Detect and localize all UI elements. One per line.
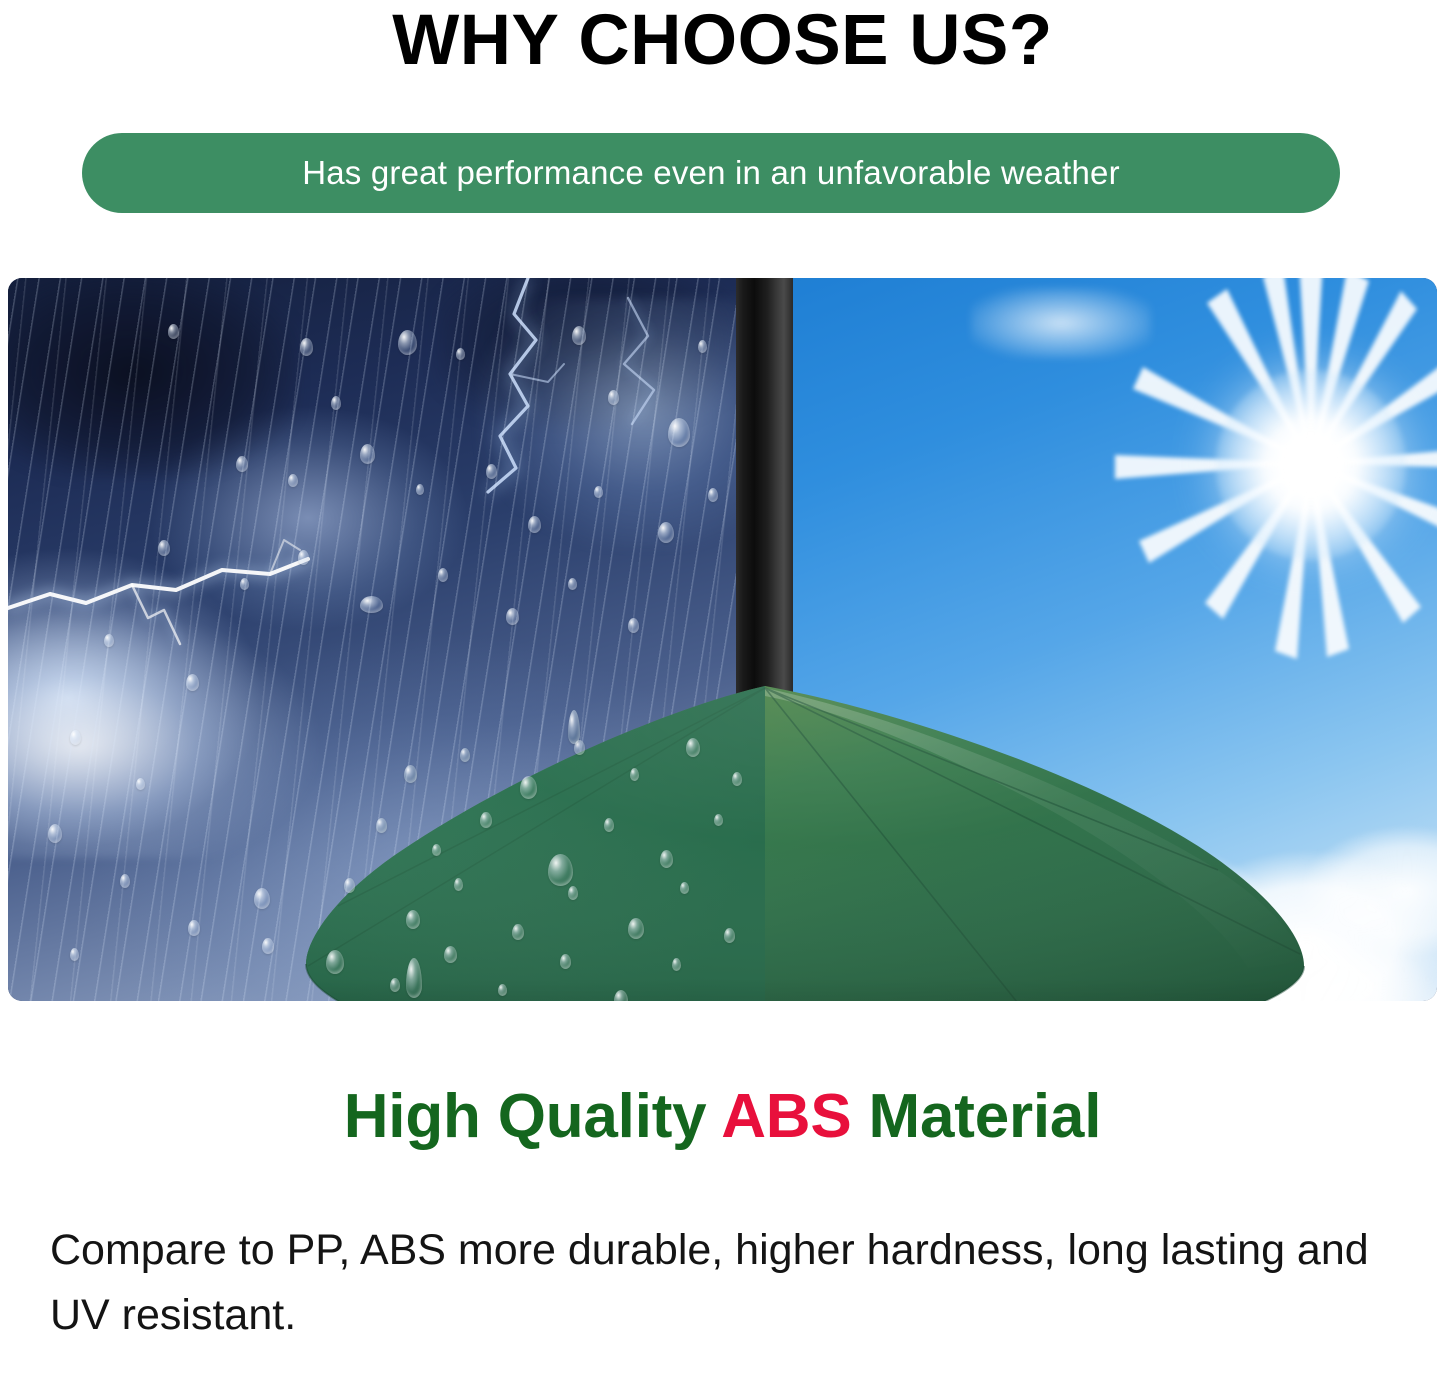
water-droplet — [70, 948, 79, 961]
water-droplet — [136, 778, 145, 790]
water-droplet — [568, 886, 578, 900]
water-droplet — [568, 578, 577, 590]
water-droplet — [630, 768, 639, 781]
water-droplet — [512, 924, 524, 940]
water-droplet — [474, 968, 484, 982]
water-droplet — [454, 878, 463, 891]
water-droplet — [416, 484, 424, 495]
water-droplet — [186, 674, 199, 691]
water-droplet — [344, 878, 355, 893]
water-droplet — [360, 596, 383, 613]
page-title: WHY CHOOSE US? — [0, 4, 1445, 79]
water-droplet — [438, 568, 448, 582]
water-droplet — [158, 540, 170, 556]
water-droplet — [406, 910, 420, 929]
water-droplet — [254, 888, 270, 909]
storm-scene-background — [8, 278, 791, 1001]
water-droplet — [432, 844, 441, 856]
water-droplet — [188, 920, 200, 936]
water-droplet — [548, 950, 557, 962]
water-droplet — [120, 874, 130, 888]
cloud-bottom-right — [1037, 781, 1437, 1001]
water-droplet — [262, 938, 274, 954]
water-droplet — [528, 516, 541, 533]
water-droplet — [506, 608, 519, 625]
water-droplet — [708, 488, 718, 502]
water-droplet — [300, 338, 313, 356]
material-heading-part2: Material — [852, 1082, 1102, 1151]
water-droplet — [548, 854, 573, 886]
water-droplet — [104, 634, 114, 647]
water-droplet — [658, 522, 674, 543]
water-droplet — [498, 984, 507, 996]
material-heading: High Quality ABS Material — [0, 1081, 1445, 1152]
water-droplet — [732, 772, 742, 786]
material-heading-highlight: ABS — [721, 1082, 851, 1151]
subtitle-banner: Has great performance even in an unfavor… — [82, 133, 1340, 213]
mailbox-post-pole — [736, 278, 793, 1001]
water-droplet — [456, 348, 465, 360]
water-droplet — [331, 396, 341, 410]
material-description: Compare to PP, ABS more durable, higher … — [50, 1218, 1395, 1349]
water-droplet — [444, 946, 457, 963]
water-droplet — [572, 326, 586, 345]
water-droplet — [360, 444, 375, 464]
water-droplet — [604, 818, 614, 832]
water-droplet — [714, 814, 723, 826]
water-droplet — [298, 550, 309, 565]
water-droplet — [672, 958, 681, 971]
water-droplet — [460, 748, 470, 762]
sunny-scene-background — [791, 278, 1437, 1001]
water-droplet — [326, 950, 344, 974]
water-droplet — [404, 765, 417, 783]
water-droplet — [240, 578, 249, 590]
product-photo-panel — [8, 278, 1437, 1001]
water-droplet — [398, 330, 417, 355]
water-droplet — [686, 738, 700, 757]
water-droplet — [390, 978, 400, 992]
water-droplet — [698, 340, 707, 353]
subtitle-banner-text: Has great performance even in an unfavor… — [302, 154, 1120, 192]
water-droplet — [376, 818, 387, 833]
material-heading-part1: High Quality — [344, 1082, 721, 1151]
water-droplet — [288, 474, 298, 487]
water-droplet — [608, 390, 619, 405]
water-droplet — [680, 882, 689, 894]
rain-streaks-layer-secondary — [8, 278, 791, 1001]
water-droplet — [594, 486, 603, 498]
sun-icon — [1216, 370, 1406, 560]
water-droplet — [480, 812, 492, 828]
water-droplet — [560, 954, 571, 969]
water-droplet — [628, 618, 639, 633]
water-droplet — [668, 418, 690, 447]
water-droplet — [724, 928, 735, 943]
water-droplet — [628, 918, 644, 939]
water-droplet — [236, 456, 248, 472]
water-droplet — [660, 850, 673, 868]
cloud-wisp-top — [971, 288, 1151, 358]
water-droplet — [168, 324, 179, 339]
water-droplet — [648, 938, 659, 953]
water-droplet — [486, 464, 497, 479]
water-droplet — [520, 776, 537, 799]
water-droplet — [48, 824, 62, 843]
water-droplet — [70, 730, 81, 745]
